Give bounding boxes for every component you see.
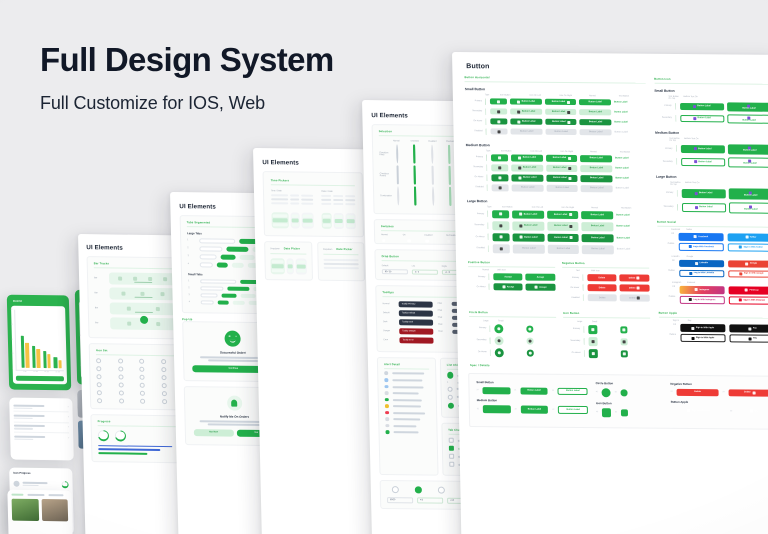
col-icon-left: Icon On Left [531,150,558,152]
text-button[interactable]: Button Label [614,119,646,125]
col-icon-left: Icon On Left [530,94,557,96]
list-item[interactable]: › [14,433,69,443]
hour-wheel[interactable] [322,212,332,229]
spec-button[interactable]: Button Label [521,405,549,414]
download-icon[interactable] [161,391,166,396]
button-normal[interactable]: Button Label [582,211,614,220]
apple-signin-button[interactable]: Sign In With Apple [680,324,726,332]
icon-text-button-stacked[interactable]: Button Label [727,102,768,111]
spec-delete-button[interactable]: Delete [676,389,718,396]
income-bar-chart: 806040200 [14,310,64,372]
text-button[interactable]: Button Label [615,165,647,172]
icon-text-button-outline-stacked[interactable]: Button Label [728,157,768,167]
button-icon-left[interactable]: Button Label [510,99,542,105]
date-picker-ghost[interactable] [271,194,314,207]
avatar [384,372,388,376]
search-icon[interactable] [133,276,137,280]
avatar [13,481,19,487]
state-label: On Hover [564,352,581,354]
spec-button[interactable]: Button Label [558,388,588,395]
plus-icon [497,110,500,113]
pin-icon[interactable] [161,383,166,388]
icon-button[interactable] [490,98,507,104]
spec-button[interactable] [482,387,510,394]
accept-button[interactable]: Accept [526,274,556,281]
button-normal[interactable]: Button Label [580,155,612,162]
icon-text-button[interactable]: Button Label [680,145,724,153]
box-icon[interactable] [161,375,166,380]
delete-button-icon[interactable]: Delete [619,275,649,282]
home-icon[interactable] [96,358,101,363]
apple-pay-button[interactable]: Pay [730,325,768,333]
button-icon-right[interactable]: Button Label [545,109,577,115]
tooltip-error: Tooltip Error [399,337,433,343]
app-icon [693,117,696,120]
col-normal: Normal [590,151,617,153]
checkbox-checked-disabled [448,144,450,163]
trash-icon [637,287,640,290]
section-progress: Progress [90,414,187,463]
progress-ring [61,481,68,488]
time-picker-ghost[interactable] [321,194,355,204]
trailing-icon [568,157,571,160]
delete-button-disabled: Delete [620,295,650,302]
square-icon-button-small[interactable] [620,326,627,333]
checkbox-checked[interactable] [413,144,415,163]
status-dot [385,424,389,428]
dropdown-card: DropdownDate Picker [264,241,312,281]
twitter-icon [739,246,742,249]
col-with-icon: With Icon [497,270,555,273]
spec-title: Medium Button [477,398,588,403]
home-indicator [134,282,152,283]
camera-icon[interactable] [139,367,144,372]
month-wheel[interactable] [271,212,288,229]
divider [382,296,468,297]
pinterest-icon [745,289,748,292]
bag-icon[interactable] [161,359,166,364]
instagram-button[interactable]: Instagram [679,286,725,294]
button-icon-left[interactable]: Button Label [512,210,544,219]
col-small: Small [592,321,650,324]
circle-button-small[interactable] [527,326,534,333]
tab-selected[interactable] [218,300,229,304]
status-dot [385,392,389,396]
icon-button[interactable] [492,233,510,242]
divider [657,225,768,227]
check-icon [535,286,538,289]
check-icon [502,286,505,289]
trash-icon[interactable] [140,391,145,396]
gallery-thumbnail[interactable] [12,499,39,521]
radio-combination[interactable] [397,186,399,205]
bell-icon[interactable] [97,382,102,387]
col-text-top: Text Button On Top [670,181,682,185]
google-button[interactable]: Google [728,260,768,268]
pinterest-icon [739,299,742,302]
home-icon[interactable] [127,321,131,325]
button-normal[interactable]: Button Label [581,175,613,182]
group-title: Medium Button [466,143,647,149]
checkbox-checked[interactable] [414,186,416,205]
status-dot-danger [385,411,389,415]
income-card-header: Income [13,300,65,304]
bar-group [32,346,40,368]
year-wheel[interactable] [301,212,314,229]
section-label: Time Pickers [271,179,355,183]
cart-icon [623,340,626,343]
tab-selected[interactable] [227,246,248,251]
icon-button[interactable] [491,174,508,181]
spec-icon-button[interactable] [602,408,611,417]
icon-text-button-stacked[interactable]: Button Label [728,188,768,199]
col-text-top: Text Button On Top [669,137,681,141]
progress-ring [98,430,109,441]
apple-signin-button-outline[interactable]: Sign In With Apple [680,334,726,342]
key-icon[interactable] [118,391,123,396]
tab-datepicker[interactable]: Date Picker [284,247,300,250]
pinterest-button-outline[interactable]: Sign In With Pinterest [729,297,768,305]
cart-icon[interactable] [118,367,123,372]
icon-button[interactable] [491,164,508,171]
checkbox-checked[interactable] [414,165,416,184]
text-button-disabled: Button Label [615,129,647,135]
spec-icon-button[interactable] [621,409,628,416]
gallery-thumbnail[interactable] [41,499,68,521]
clock-icon[interactable] [139,375,144,380]
icon-button[interactable] [490,118,507,124]
search-icon[interactable] [156,322,160,326]
state-label: On Hover [470,351,487,353]
leading-icon [519,176,522,179]
step-node[interactable] [392,486,399,493]
spec-button[interactable]: Button Label [520,387,548,394]
tab-dropdown[interactable]: Dropdown [323,248,333,250]
stepper-default[interactable]: 80 / 20 [382,269,408,275]
bottom-navbar[interactable] [109,272,176,285]
share-icon[interactable] [162,399,167,404]
facebook-button[interactable]: Facebook [678,233,724,241]
chat-icon[interactable] [118,383,123,388]
spec-title: Circle Button [596,381,663,386]
text-button[interactable]: Button Label [617,234,649,243]
mockup-bank-list: › › › › [9,398,74,461]
button-icon-right[interactable]: Button Label [546,164,578,171]
gallery-tabs[interactable] [11,494,67,497]
check-icon[interactable] [140,399,145,404]
col-normal: Normal [591,207,618,209]
accept-button-hover[interactable]: Accept [493,283,523,290]
delete-button-hover[interactable]: Delete [620,285,650,292]
heart-icon[interactable] [96,374,101,379]
button-normal[interactable]: Button Label [580,109,612,115]
button-icon-right[interactable]: Button Label [547,222,579,231]
heart-icon[interactable] [141,291,145,295]
icon-text-button-outline-stacked[interactable]: Button Label [727,114,768,123]
spec-button[interactable]: Button Label [558,406,588,415]
radio-option[interactable] [447,395,452,400]
linkedin-icon [689,272,692,275]
button-icon-right[interactable]: Button Label [545,99,577,105]
tab-selected[interactable] [221,254,236,259]
radio-disabled [431,186,433,205]
twitter-button[interactable]: Twitter [728,234,768,242]
twitter-button-outline[interactable]: Sign In With Twitter [728,244,768,252]
profile-icon[interactable] [163,277,167,281]
col-icon-right: Icon On Right [560,151,587,153]
mail-icon[interactable] [140,383,145,388]
text-button[interactable]: Button Label [614,99,646,105]
checkbox-checked-disabled [449,186,451,205]
linkedin-button-outline[interactable]: Log In With LinkedIn [679,270,725,278]
circle-button-hover[interactable] [495,348,504,357]
icon-text-button-outline[interactable]: Button Label [681,158,725,166]
delete-button[interactable]: Delete [587,274,617,281]
text-button[interactable]: Button Label [616,222,648,231]
home-icon[interactable] [121,291,125,295]
checkbox-normal[interactable] [396,165,398,184]
apple-pay-button-outline[interactable]: Pay [730,335,768,343]
button-icon-right[interactable]: Button Label [546,154,578,161]
cart-icon[interactable] [161,292,165,296]
square-icon-button-hover[interactable] [621,350,628,357]
meridiem-wheel[interactable] [346,213,356,230]
col-text-button: Text Button [620,151,647,153]
tab-dropdown[interactable]: Dropdown [270,248,280,250]
icon-text-button-outline-stacked[interactable]: Button Label [729,202,768,213]
spec-circle-button[interactable] [621,389,628,396]
app-icon [695,206,698,209]
pinterest-button[interactable]: Pinterest [729,287,768,295]
icon-button[interactable] [491,154,508,161]
col-text-bottom: Bottom Text On [684,138,768,143]
stepper-list[interactable]: 4 / 2 [412,269,438,275]
checkbox-item[interactable] [449,462,454,467]
radio-option[interactable] [447,387,452,392]
stepper[interactable]: 80/20 [387,497,413,503]
list-item[interactable]: › [13,402,68,413]
tab-selected[interactable] [217,262,228,267]
tab-selected[interactable] [221,293,236,297]
withdraw-earning-button[interactable] [16,376,64,382]
plus-icon[interactable] [119,399,124,404]
icon-button[interactable] [492,221,510,230]
icon-button[interactable] [490,108,507,114]
panel-button: Button Button Horizontal Small Button Ty… [452,52,768,534]
month-wheel[interactable] [270,258,284,275]
checkbox-item[interactable] [448,438,453,443]
icon-text-button-stacked[interactable]: Button Label [728,144,768,154]
trailing-icon [568,177,571,180]
button-normal[interactable]: Button Label [580,119,612,125]
section-label: Drop Button [382,255,468,259]
spec-title: Icon Button [596,401,663,406]
plus-icon [500,236,503,239]
spec-apple-signin[interactable]: Sign In With Apple [671,407,727,415]
bottom-navbar[interactable] [110,302,177,315]
divider [96,354,178,356]
spec-delete-button[interactable]: Delete [728,389,768,396]
list-item[interactable]: › [14,422,69,433]
button-icon-right[interactable]: Button Label [545,119,577,125]
checkbox-item[interactable] [449,454,454,459]
gear-icon[interactable] [156,307,160,311]
lock-icon[interactable] [97,390,102,395]
google-button-outline[interactable]: Sign In With Google [729,270,768,278]
divider [563,317,650,318]
bottom-navbar[interactable] [109,287,176,300]
divider [469,316,556,317]
step-node[interactable] [438,487,445,494]
spec-button[interactable] [483,405,511,414]
group-small-button: Small Button Type Icon Button Icon On Le… [465,87,647,137]
leading-icon [518,156,521,159]
square-icon-button[interactable] [588,325,597,334]
button-icon-left[interactable]: Button Label [511,119,543,125]
section-label-social: Button Social [657,220,768,224]
divider [381,230,467,231]
list-item[interactable]: › [14,412,69,423]
instagram-button-outline[interactable]: Log In With Instagram [679,296,725,304]
chart-y-axis: 806040200 [11,310,14,370]
icon-text-button[interactable]: Button Label [680,103,724,110]
square-icon-button-secondary[interactable] [621,338,628,345]
time-picker-active[interactable] [322,212,356,229]
icon-text-button-outline[interactable]: Button Label [681,203,725,212]
text-button-disabled: Button Label [616,185,648,192]
bottom-navbar-fab[interactable] [110,317,177,330]
button-normal[interactable]: Button Label [579,99,611,105]
status-dot [384,379,388,383]
accept-button[interactable]: Accept [493,273,523,280]
divider [379,135,465,136]
tab-selected[interactable] [228,286,249,290]
group-title: Small Button [654,88,768,93]
day-wheel[interactable] [290,212,300,229]
star-icon[interactable] [118,375,123,380]
text-button[interactable]: Button Label [615,175,647,182]
leading-icon [519,224,522,227]
icon-text-button[interactable]: Button Label [681,189,725,198]
circle-button-secondary[interactable] [527,338,534,345]
button-normal[interactable]: Button Label [582,222,614,231]
section-label: Alert Detail [384,363,429,366]
checkbox-item-checked[interactable] [449,446,454,451]
grid-icon[interactable] [127,306,131,310]
leading-icon [518,166,521,169]
home-icon[interactable] [118,276,122,280]
section-time-pickers: Time Pickers Time / Date Order / Date [263,171,365,237]
smiley-icon [224,330,240,346]
state-label: Primary [656,192,673,194]
button-icon-left[interactable]: Button Label [512,164,544,171]
shield-icon[interactable] [161,367,166,372]
button-icon-right[interactable]: Button Label [546,174,578,181]
user-icon[interactable] [96,366,101,371]
icon-grid [96,358,179,404]
button-disabled: Button Label [580,129,612,135]
radio-normal[interactable] [396,144,398,163]
col-checked: Checked [411,140,426,142]
floating-action-button[interactable] [140,315,148,323]
button-icon-left[interactable]: Button Label [510,109,542,115]
col-icon-button: Icon Button [501,150,528,152]
section-label-apple: Button Apple [659,311,768,315]
state-label: On Hover [465,120,482,122]
state-label: Secondary [563,340,580,342]
circle-button-hover[interactable] [527,350,534,357]
icon-button[interactable] [492,210,510,219]
plus-icon [498,351,501,354]
button-icon-left[interactable]: Button Label [511,154,543,161]
check-circle-icon [448,403,455,410]
linkedin-button[interactable]: LinkedIn [679,260,725,268]
section-label-positive: Positive Button [468,261,555,265]
circle-button-secondary[interactable] [494,336,503,345]
bulb-icon[interactable] [118,359,123,364]
button-icon-left[interactable]: Button Label [512,174,544,181]
tab-datepicker[interactable]: Date Picker [336,248,352,251]
accept-button-hover[interactable]: Accept [526,284,556,291]
button-icon-left[interactable]: Button Label [513,233,545,242]
date-picker-active[interactable] [271,212,314,229]
text-button[interactable]: Button Label [615,155,647,162]
twitter-icon [745,236,748,239]
state-label: On Hover [468,286,485,288]
trailing-icon [567,101,570,104]
button-normal[interactable]: Button Label [582,234,614,243]
group-button-apple: Button Apple Sign In Pay Fill Sign In Wi… [659,311,768,342]
col-disabled: Disabled [424,235,442,237]
gear-icon[interactable] [139,359,144,364]
checkbox-checked-disabled [448,165,450,184]
button-icon-right[interactable]: Button Label [547,210,579,219]
not-now-button[interactable]: Not Now [194,429,234,436]
text-button[interactable]: Button Label [614,109,646,115]
icon-text-button-outline[interactable]: Button Label [680,115,724,122]
square-icon-button-secondary[interactable] [588,337,597,346]
plus-icon [500,247,503,250]
apple-icon [691,327,694,330]
col-type: Type [487,206,499,208]
page-subtitle: Full Customize for IOS, Web [40,93,334,114]
divider [271,184,355,186]
day-wheel[interactable] [286,258,294,275]
spec-apple-pay[interactable]: Pay [736,407,768,415]
button-normal[interactable]: Button Label [581,165,613,172]
group-title: Small Button [465,87,646,93]
button-icon-left[interactable]: Button Label [513,222,545,231]
circle-button[interactable] [494,324,503,333]
minute-wheel[interactable] [334,213,344,230]
facebook-button-outline[interactable]: Login With Facebook [678,243,724,251]
square-icon-button-hover[interactable] [588,349,597,358]
cart-icon [591,328,594,331]
stepper[interactable]: 4/2 [417,497,443,503]
section-label-icon: Button Icon [654,78,768,82]
plus-icon [529,351,532,354]
spec-circle-button[interactable] [602,388,611,397]
delete-button-hover[interactable]: Delete [587,284,617,291]
bell-icon[interactable] [148,277,152,281]
year-wheel[interactable] [296,258,306,275]
state-label: Primary [655,105,672,107]
close-icon[interactable] [97,398,102,403]
button-icon-right[interactable]: Button Label [547,233,579,242]
step-node-active[interactable] [415,487,422,494]
text-button[interactable]: Button Label [616,211,648,220]
state-label: Disabled [467,186,484,188]
